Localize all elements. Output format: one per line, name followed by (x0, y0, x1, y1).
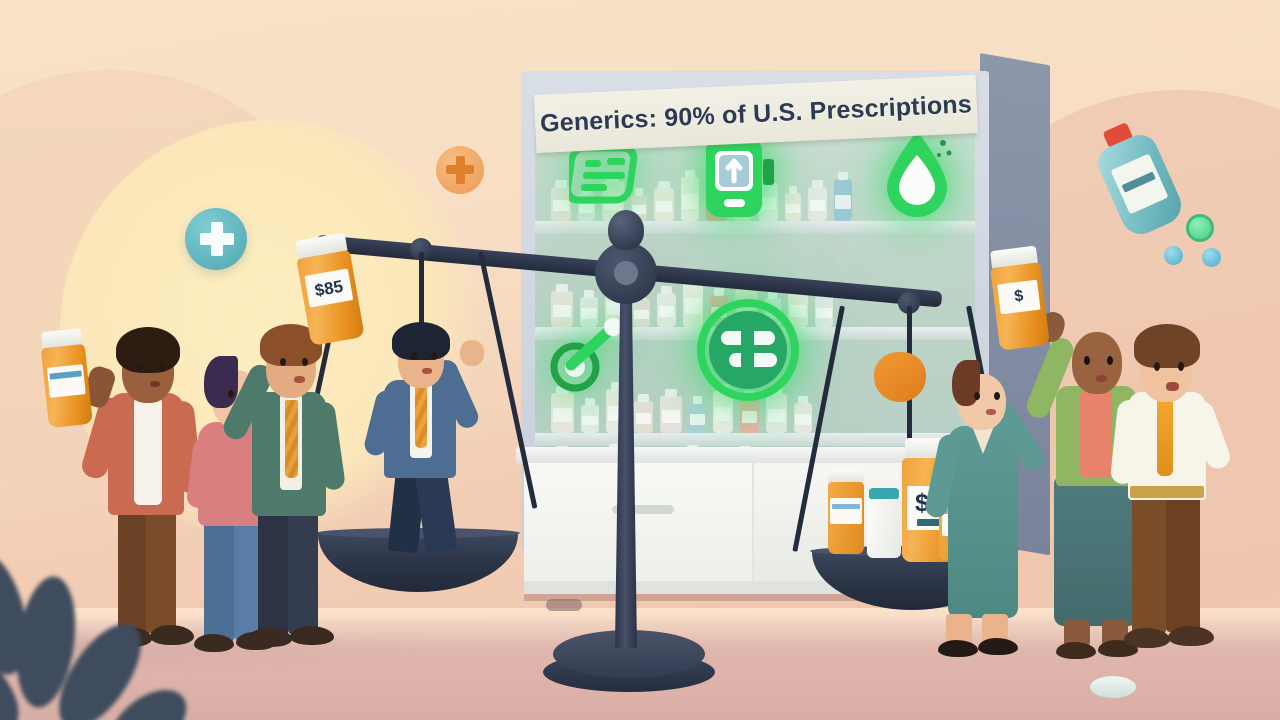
leg-left (258, 510, 288, 636)
person-businessman-suit (358, 318, 508, 548)
necktie (415, 386, 427, 448)
mouth (986, 409, 996, 415)
eye-left (974, 392, 980, 400)
leg-right (1166, 494, 1200, 632)
coral-top (1080, 390, 1112, 478)
eye-left (1084, 356, 1090, 365)
eye-left (411, 352, 417, 360)
mouth (1096, 375, 1107, 382)
scale-finial-knob (608, 210, 644, 250)
mouth (1166, 382, 1179, 391)
mouth (294, 376, 305, 383)
leg-left (1132, 494, 1166, 634)
bottle-price-text: $85 (313, 277, 344, 299)
person-man-white-shirt (1110, 296, 1260, 668)
shoe-left (938, 640, 978, 657)
eye-right (302, 358, 308, 366)
bottle-price-text: $ (1013, 289, 1024, 306)
shoe-right (1168, 626, 1214, 646)
green-pill-dot (1186, 214, 1214, 242)
necktie (1157, 396, 1173, 476)
belt (1130, 486, 1204, 498)
orange-cross-badge (436, 146, 484, 194)
raised-hand (460, 340, 484, 366)
mouth (150, 381, 160, 387)
eye-left (1154, 362, 1160, 371)
illustration-canvas: Generics: 90% of U.S. Prescriptions (0, 0, 1280, 720)
hair (392, 322, 450, 360)
banner-title: Generics: 90% of U.S. Prescriptions (539, 90, 972, 139)
mouth (422, 368, 432, 374)
blue-pill-dot-2 (1202, 248, 1221, 267)
hair (1134, 324, 1200, 368)
shoe-left (248, 628, 292, 647)
necktie (285, 400, 298, 478)
eye-right (1178, 362, 1184, 371)
scale-pivot-center (614, 261, 638, 285)
prescription-document-icon (569, 143, 641, 205)
shoe-left (1056, 642, 1096, 659)
held-orange-container (874, 352, 926, 402)
person-man-green-shirt (228, 300, 358, 650)
hair (116, 327, 180, 373)
foreground-plant-leaf (0, 556, 190, 720)
teal-cross-badge (185, 208, 247, 270)
eye-right (158, 363, 164, 371)
tshirt (134, 397, 162, 505)
shoe-left (1124, 628, 1170, 648)
eye-right (994, 392, 1000, 400)
shoe-right (978, 638, 1018, 655)
dropped-tablet (1090, 676, 1136, 698)
pan-bottle-white-band (826, 470, 866, 554)
leg-right (288, 510, 318, 634)
shoe-right (290, 626, 334, 645)
pan-vial-teal-cap (866, 488, 902, 558)
eye-left (280, 358, 286, 366)
blue-pill-dot-1 (1164, 246, 1183, 265)
eye-left (136, 363, 142, 371)
eye-right (431, 352, 437, 360)
